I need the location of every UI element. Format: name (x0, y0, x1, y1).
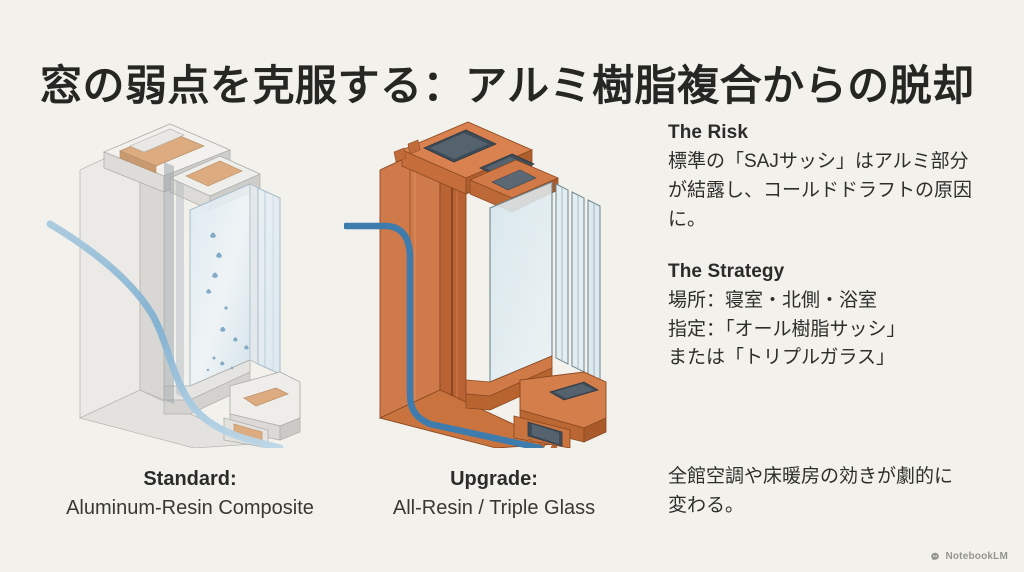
caption-standard: Standard: Aluminum-Resin Composite (30, 465, 350, 523)
strategy-heading: The Strategy (668, 261, 998, 283)
strategy-block: The Strategy 場所：寝室・北側・浴室 指定：「オール樹脂サッシ」 ま… (668, 261, 998, 374)
caption-standard-sub: Aluminum-Resin Composite (30, 494, 350, 523)
strategy-line-1: 場所：寝室・北側・浴室 (668, 287, 998, 316)
closing-note: 全館空調や床暖房の効きが劇的に 変わる。 (668, 463, 998, 521)
standard-glazing-unit (190, 184, 280, 386)
notebooklm-watermark: NotebookLM (929, 550, 1008, 562)
caption-upgrade-head: Upgrade: (334, 465, 654, 494)
diagram-upgrade-window (344, 118, 644, 448)
risk-line-1: 標準の「SAJサッシ」はアルミ部分 (668, 148, 998, 177)
notebooklm-icon (929, 550, 941, 562)
closing-note-line-2: 変わる。 (668, 492, 998, 521)
caption-upgrade: Upgrade: All-Resin / Triple Glass (334, 465, 654, 523)
risk-line-2: が結露し、コールドドラフトの原因 (668, 177, 998, 206)
risk-block: The Risk 標準の「SAJサッシ」はアルミ部分 が結露し、コールドドラフト… (668, 122, 998, 235)
diagram-standard-window (44, 118, 344, 448)
strategy-line-2: 指定：「オール樹脂サッシ」 (668, 316, 998, 345)
strategy-line-3: または「トリプルガラス」 (668, 344, 998, 373)
upgrade-triple-glazing (490, 182, 600, 382)
upgrade-frame-sill (514, 372, 606, 448)
caption-upgrade-sub: All-Resin / Triple Glass (334, 494, 654, 523)
risk-body: 標準の「SAJサッシ」はアルミ部分 が結露し、コールドドラフトの原因 に。 (668, 148, 998, 235)
strategy-body: 場所：寝室・北側・浴室 指定：「オール樹脂サッシ」 または「トリプルガラス」 (668, 287, 998, 374)
notebooklm-label: NotebookLM (945, 551, 1008, 562)
slide-canvas: 窓の弱点を克服する：アルミ樹脂複合からの脱却 (0, 0, 1024, 572)
caption-standard-head: Standard: (30, 465, 350, 494)
page-title: 窓の弱点を克服する：アルミ樹脂複合からの脱却 (40, 62, 990, 110)
text-column: The Risk 標準の「SAJサッシ」はアルミ部分 が結露し、コールドドラフト… (668, 122, 998, 399)
risk-line-3: に。 (668, 206, 998, 235)
risk-heading: The Risk (668, 122, 998, 144)
closing-note-line-1: 全館空調や床暖房の効きが劇的に (668, 463, 998, 492)
